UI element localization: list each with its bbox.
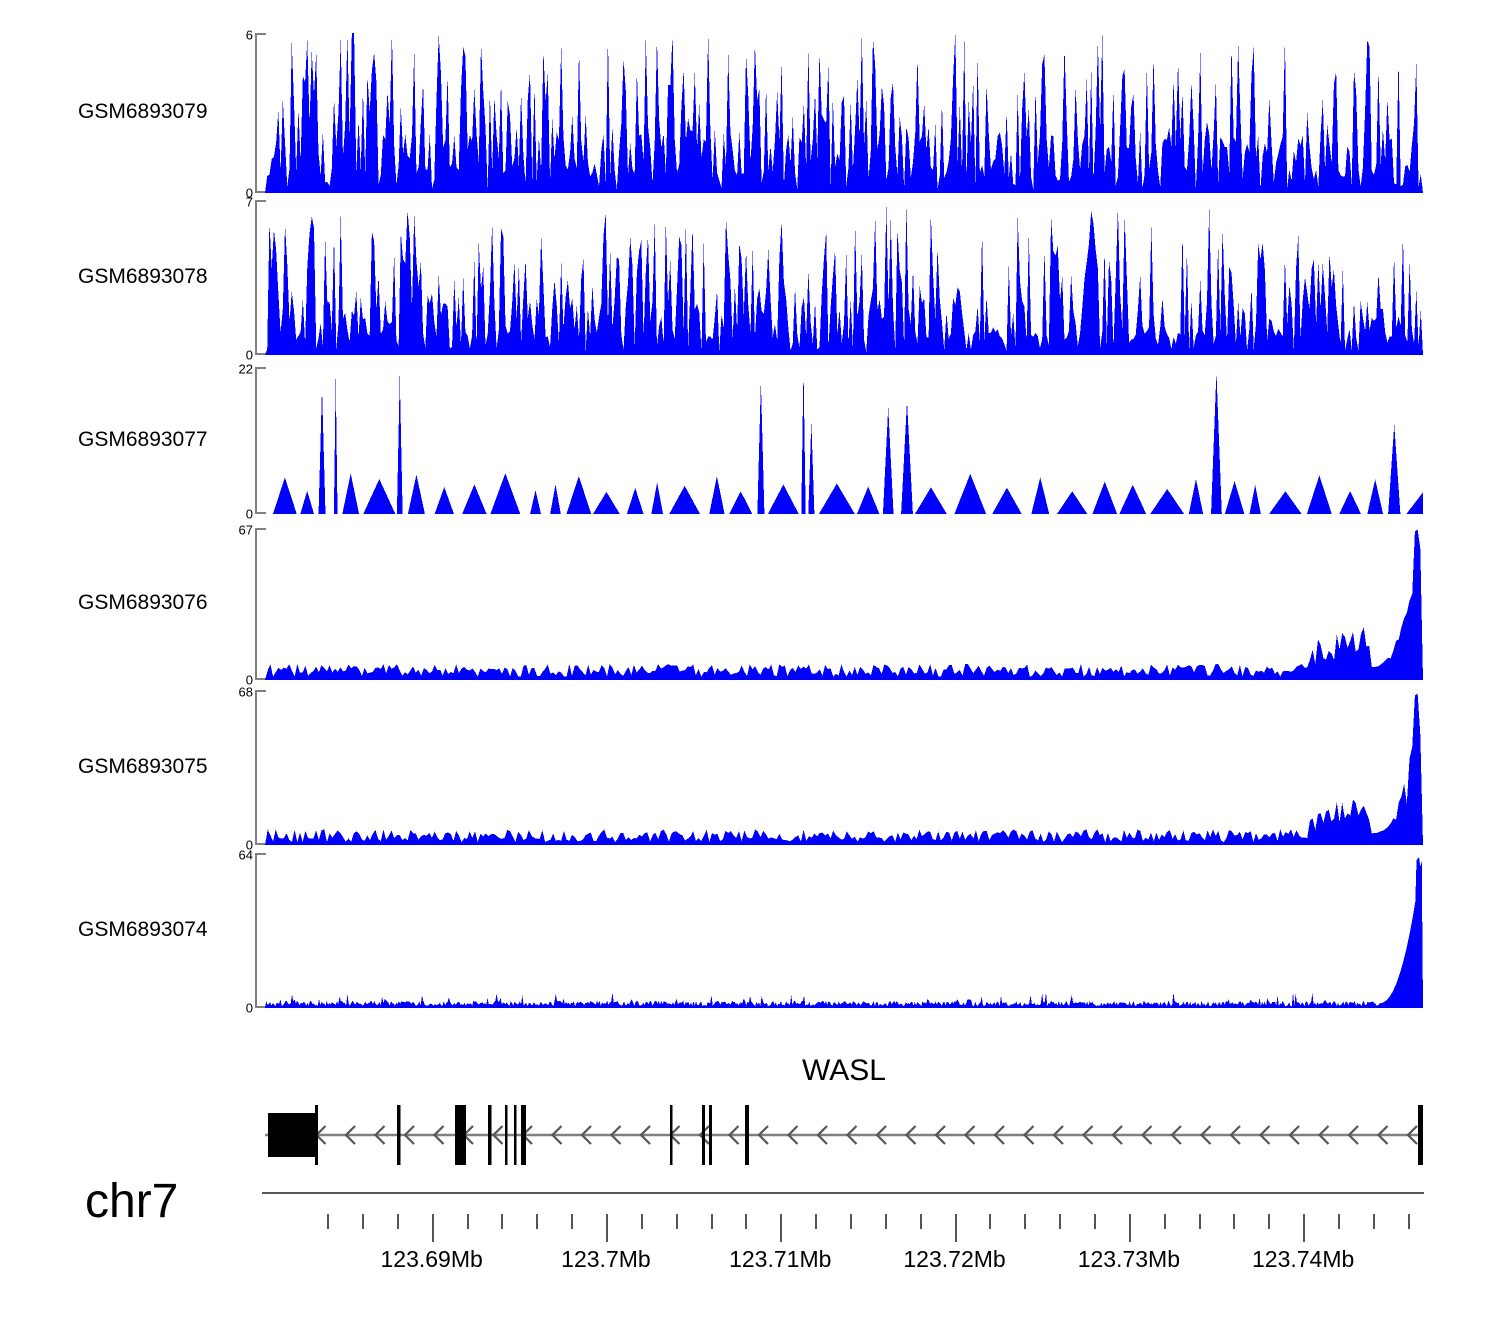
ruler-tick-minor [536, 1214, 538, 1229]
y-axis-min-label: 0 [246, 1002, 253, 1015]
ruler-tick-minor [711, 1214, 713, 1229]
ruler-label: 123.73Mb [1078, 1246, 1180, 1273]
ruler-tick-minor [501, 1214, 503, 1229]
y-axis-GSM6893077: 220 [255, 367, 265, 514]
y-axis-max-label: 64 [239, 849, 253, 862]
ruler-tick-minor [1233, 1214, 1235, 1229]
track-label-GSM6893076: GSM6893076 [78, 591, 208, 615]
ruler-label: 123.7Mb [561, 1246, 651, 1273]
ruler-tick-minor [641, 1214, 643, 1229]
y-axis-GSM6893074: 640 [255, 853, 265, 1008]
gene-annotation-track[interactable]: WASL [0, 1040, 1500, 1210]
track-GSM6893078[interactable]: GSM689307870 [0, 200, 1500, 355]
genome-browser: GSM689307960GSM689307870GSM6893077220GSM… [0, 0, 1500, 1320]
ruler-tick-minor [850, 1214, 852, 1229]
ruler-tick-major [780, 1214, 782, 1242]
ruler-tick-minor [1373, 1214, 1375, 1229]
ruler-tick-minor [1094, 1214, 1096, 1229]
track-GSM6893074[interactable]: GSM6893074640 [0, 853, 1500, 1008]
ruler-label: 123.69Mb [380, 1246, 482, 1273]
y-axis-GSM6893079: 60 [255, 33, 265, 193]
ruler-tick-minor [397, 1214, 399, 1229]
ruler-tick-major [955, 1214, 957, 1242]
track-GSM6893079[interactable]: GSM689307960 [0, 33, 1500, 193]
ruler-tick-minor [920, 1214, 922, 1229]
chromosome-label: chr7 [85, 1174, 178, 1229]
ruler-tick-minor [1268, 1214, 1270, 1229]
ruler-tick-minor [362, 1214, 364, 1229]
ruler-tick-minor [1338, 1214, 1340, 1229]
ruler-tick-minor [1199, 1214, 1201, 1229]
ruler-tick-minor [815, 1214, 817, 1229]
track-GSM6893076[interactable]: GSM6893076670 [0, 528, 1500, 680]
track-GSM6893077[interactable]: GSM6893077220 [0, 367, 1500, 514]
ruler-tick-major [1303, 1214, 1305, 1242]
ruler-label: 123.71Mb [729, 1246, 831, 1273]
genome-axis-line [262, 1192, 1424, 1194]
ruler-tick-minor [467, 1214, 469, 1229]
y-axis-min-label: 0 [246, 349, 253, 362]
signal-plot-GSM6893078[interactable] [265, 200, 1423, 355]
y-axis-min-label: 0 [246, 508, 253, 521]
y-axis-GSM6893078: 70 [255, 200, 265, 355]
ruler-tick-major [606, 1214, 608, 1242]
ruler-label: 123.74Mb [1252, 1246, 1354, 1273]
signal-plot-GSM6893079[interactable] [265, 33, 1423, 193]
gene-model[interactable] [265, 1095, 1423, 1175]
track-label-GSM6893078: GSM6893078 [78, 265, 208, 289]
y-axis-GSM6893076: 670 [255, 528, 265, 680]
track-label-GSM6893075: GSM6893075 [78, 755, 208, 779]
ruler-tick-minor [1059, 1214, 1061, 1229]
ruler-tick-minor [327, 1214, 329, 1229]
y-axis-max-label: 68 [239, 686, 253, 699]
y-axis-max-label: 67 [239, 524, 253, 537]
gene-name-label: WASL [265, 1054, 1423, 1088]
track-GSM6893075[interactable]: GSM6893075680 [0, 690, 1500, 845]
track-label-GSM6893079: GSM6893079 [78, 100, 208, 124]
ruler-label: 123.72Mb [903, 1246, 1005, 1273]
ruler-tick-minor [745, 1214, 747, 1229]
ruler-tick-minor [1164, 1214, 1166, 1229]
ruler-tick-minor [1408, 1214, 1410, 1229]
genome-coordinate-ruler[interactable]: 123.69Mb123.7Mb123.71Mb123.72Mb123.73Mb1… [262, 1214, 1424, 1309]
signal-plot-GSM6893076[interactable] [265, 528, 1423, 680]
y-axis-max-label: 7 [246, 196, 253, 209]
ruler-tick-minor [989, 1214, 991, 1229]
y-axis-GSM6893075: 680 [255, 690, 265, 845]
ruler-tick-minor [676, 1214, 678, 1229]
y-axis-max-label: 6 [246, 29, 253, 42]
y-axis-max-label: 22 [239, 363, 253, 376]
signal-plot-GSM6893077[interactable] [265, 367, 1423, 514]
ruler-tick-minor [1024, 1214, 1026, 1229]
ruler-tick-major [432, 1214, 434, 1242]
track-label-GSM6893074: GSM6893074 [78, 918, 208, 942]
ruler-tick-minor [571, 1214, 573, 1229]
ruler-tick-minor [885, 1214, 887, 1229]
signal-plot-GSM6893074[interactable] [265, 853, 1423, 1008]
track-label-GSM6893077: GSM6893077 [78, 428, 208, 452]
ruler-tick-major [1129, 1214, 1131, 1242]
signal-plot-GSM6893075[interactable] [265, 690, 1423, 845]
